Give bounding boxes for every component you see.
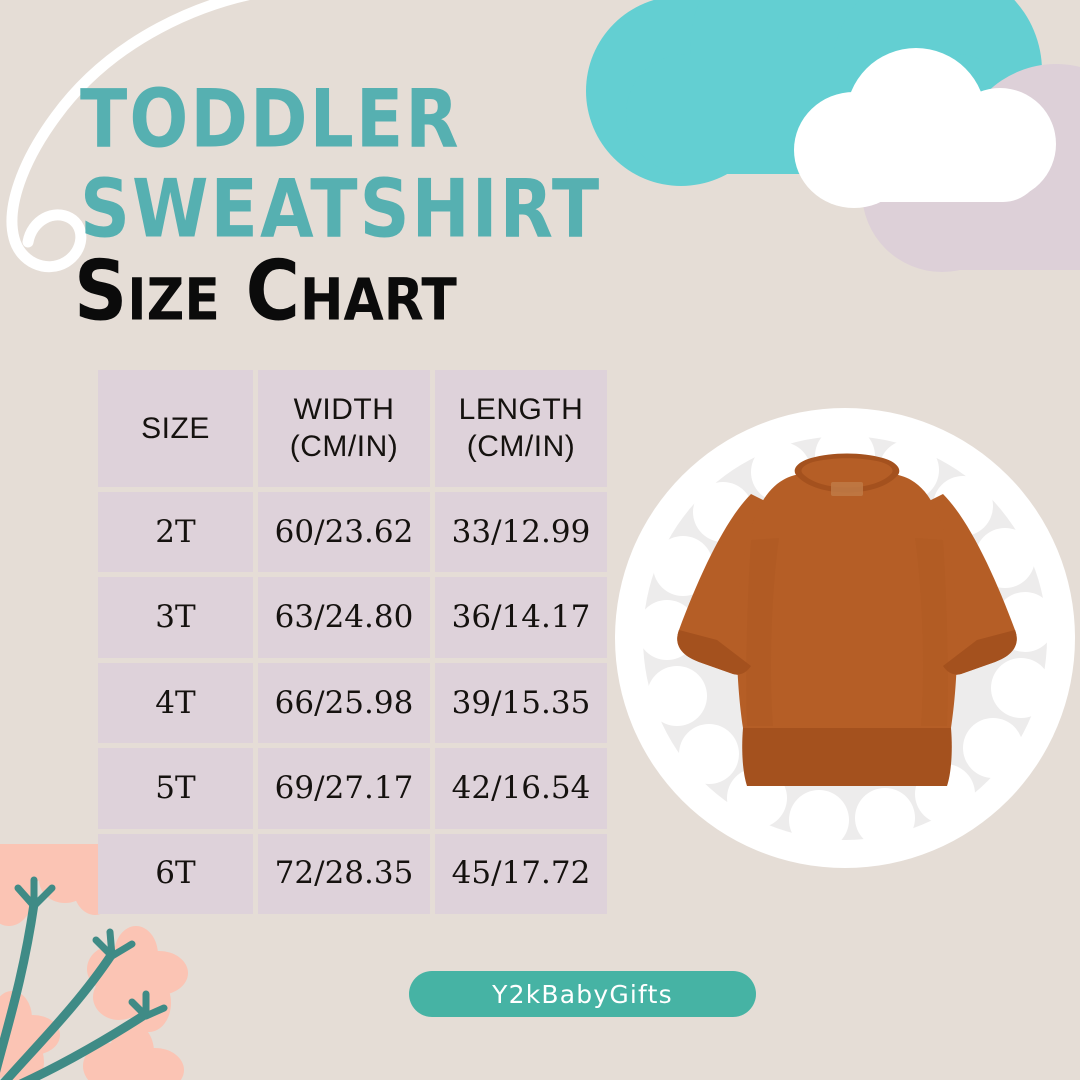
table-row: 3T 63/24.80 36/14.17 bbox=[98, 577, 607, 657]
cell-size: 4T bbox=[98, 663, 253, 743]
table-row: 5T 69/27.17 42/16.54 bbox=[98, 748, 607, 828]
table-row: 2T 60/23.62 33/12.99 bbox=[98, 492, 607, 572]
cell-length: 33/12.99 bbox=[435, 492, 607, 572]
sweatshirt-illustration bbox=[655, 440, 1039, 790]
brand-badge-label: Y2kBabyGifts bbox=[492, 980, 673, 1009]
title-line-sweatshirt: SWEATSHIRT bbox=[80, 168, 601, 253]
table-row: 4T 66/25.98 39/15.35 bbox=[98, 663, 607, 743]
cloud-white-icon bbox=[794, 48, 1054, 208]
cell-size: 5T bbox=[98, 748, 253, 828]
size-chart-table: SIZE WIDTH (CM/IN) LENGTH (CM/IN) 2T 60/… bbox=[98, 370, 607, 914]
cell-width: 66/25.98 bbox=[258, 663, 430, 743]
title-line-toddler: TODDLER bbox=[80, 78, 461, 163]
column-header-length-label: LENGTH bbox=[459, 392, 584, 429]
cell-size: 2T bbox=[98, 492, 253, 572]
page-title: Size Chart bbox=[74, 248, 457, 335]
cell-size: 3T bbox=[98, 577, 253, 657]
column-header-width-label: WIDTH bbox=[290, 392, 398, 429]
column-header-width: WIDTH (CM/IN) bbox=[258, 370, 430, 487]
cell-width: 69/27.17 bbox=[258, 748, 430, 828]
table-row: 6T 72/28.35 45/17.72 bbox=[98, 834, 607, 914]
brand-badge[interactable]: Y2kBabyGifts bbox=[409, 971, 756, 1017]
cell-length: 36/14.17 bbox=[435, 577, 607, 657]
cell-length: 45/17.72 bbox=[435, 834, 607, 914]
size-chart-poster: TODDLER SWEATSHIRT Size Chart SIZE WIDTH… bbox=[0, 0, 1080, 1080]
column-header-width-unit: (CM/IN) bbox=[290, 429, 398, 466]
column-header-length: LENGTH (CM/IN) bbox=[435, 370, 607, 487]
column-header-size: SIZE bbox=[98, 370, 253, 487]
table-header-row: SIZE WIDTH (CM/IN) LENGTH (CM/IN) bbox=[98, 370, 607, 487]
cell-size: 6T bbox=[98, 834, 253, 914]
cell-width: 72/28.35 bbox=[258, 834, 430, 914]
cell-length: 42/16.54 bbox=[435, 748, 607, 828]
column-header-length-unit: (CM/IN) bbox=[459, 429, 584, 466]
cell-width: 60/23.62 bbox=[258, 492, 430, 572]
cell-width: 63/24.80 bbox=[258, 577, 430, 657]
product-image-circle bbox=[615, 408, 1075, 868]
cell-length: 39/15.35 bbox=[435, 663, 607, 743]
